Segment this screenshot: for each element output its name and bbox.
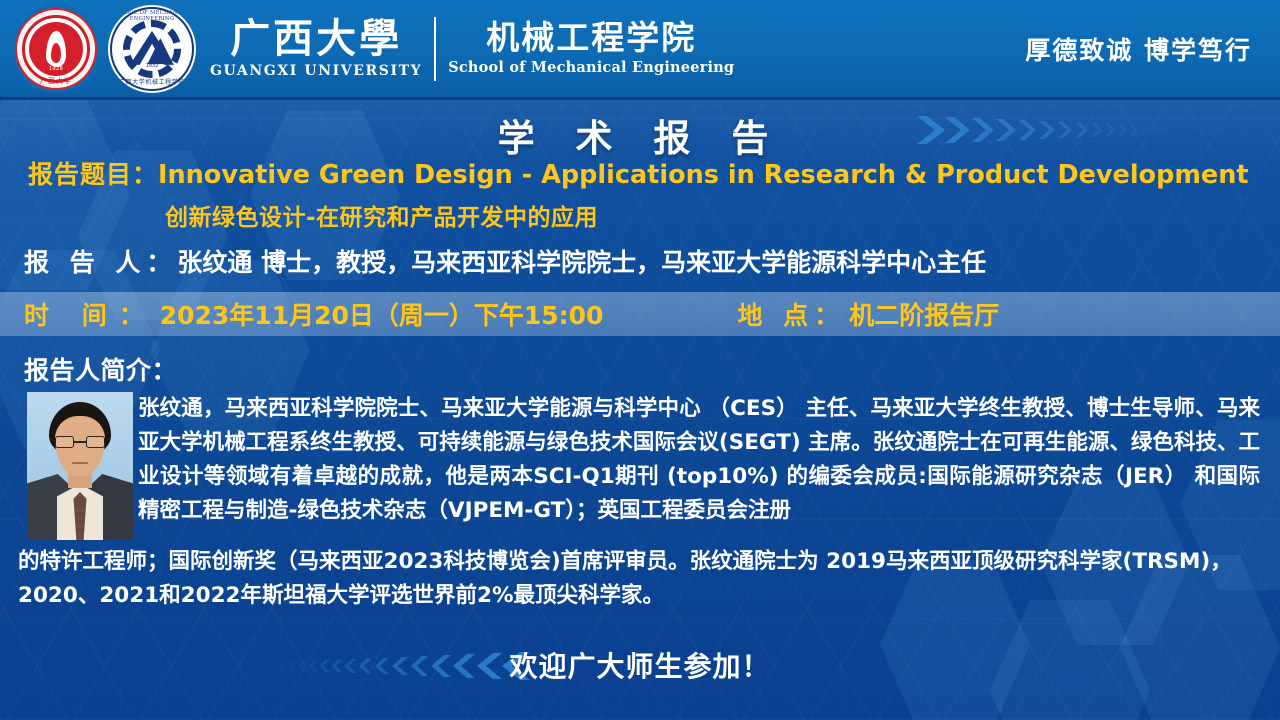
university-motto: 厚德致诚 博学笃行 bbox=[1025, 31, 1252, 67]
wordmark-university-en: GUANGXI UNIVERSITY bbox=[210, 63, 422, 79]
seal-year: 1928 bbox=[12, 66, 100, 72]
bio-paragraph-indented: 张纹通，马来西亚科学院院士、马来亚大学能源与科学中心 （CES） 主任、马来亚大… bbox=[138, 392, 1260, 528]
wordmark-school-en: School of Mechanical Engineering bbox=[448, 59, 734, 76]
time-value: 2023年11月20日（周一）下午15:00 bbox=[160, 296, 604, 332]
topic-value-cn: 创新绿色设计-在研究和产品开发中的应用 bbox=[165, 198, 598, 232]
wordmark-divider bbox=[434, 17, 436, 81]
time-label: 时 间： bbox=[24, 296, 156, 332]
guangxi-university-seal-icon: 1928 广西大学 bbox=[12, 5, 100, 93]
school-of-mechanical-engineering-logo-icon: SCHOOL OF MECHANICAL ENGINEERING 1932 广西… bbox=[108, 5, 196, 93]
time-and-place-bar: 时 间： 2023年11月20日（周一）下午15:00 地 点： 机二阶报告厅 bbox=[0, 292, 1280, 336]
topic-label: 报告题目： bbox=[28, 160, 158, 189]
wordmark-school-cn: 机械工程学院 bbox=[486, 21, 696, 54]
logo-ring-text-cn: 广西大学机械工程学院 bbox=[108, 77, 196, 86]
speaker-label: 报 告 人： bbox=[24, 248, 177, 277]
speaker-value: 张纹通 博士，教授，马来西亚科学院院士，马来亚大学能源科学中心主任 bbox=[177, 248, 986, 277]
seal-cn-name: 广西大学 bbox=[12, 76, 100, 86]
topic-row: 报告题目：Innovative Green Design - Applicati… bbox=[28, 155, 1258, 191]
logo-ring-text-en: SCHOOL OF MECHANICAL ENGINEERING bbox=[108, 10, 196, 22]
place-label: 地 点： bbox=[737, 296, 845, 332]
page-title: 学 术 报 告 bbox=[0, 108, 1280, 162]
topic-value-en: Innovative Green Design - Applications i… bbox=[158, 160, 1249, 190]
place-value: 机二阶报告厅 bbox=[849, 296, 999, 332]
wordmark-university-cn: 广西大學 bbox=[230, 19, 402, 59]
wordmark: 广西大學 GUANGXI UNIVERSITY 机械工程学院 School of… bbox=[210, 17, 734, 81]
speaker-portrait-photo bbox=[27, 392, 133, 540]
bio-heading: 报告人简介： bbox=[24, 351, 177, 387]
seminar-poster: 1928 广西大学 SCHOOL OF MECHANICAL ENGINEERI… bbox=[0, 0, 1280, 720]
bio-paragraph-full: 的特许工程师；国际创新奖（马来西亚2023科技博览会)首席评审员。张纹通院士为 … bbox=[18, 545, 1266, 613]
header-bar: 1928 广西大学 SCHOOL OF MECHANICAL ENGINEERI… bbox=[0, 0, 1280, 100]
speaker-row: 报 告 人：张纹通 博士，教授，马来西亚科学院院士，马来亚大学能源科学中心主任 bbox=[24, 243, 986, 279]
welcome-message: 欢迎广大师生参加！ bbox=[0, 645, 1280, 685]
logo-year: 1932 bbox=[108, 63, 196, 69]
